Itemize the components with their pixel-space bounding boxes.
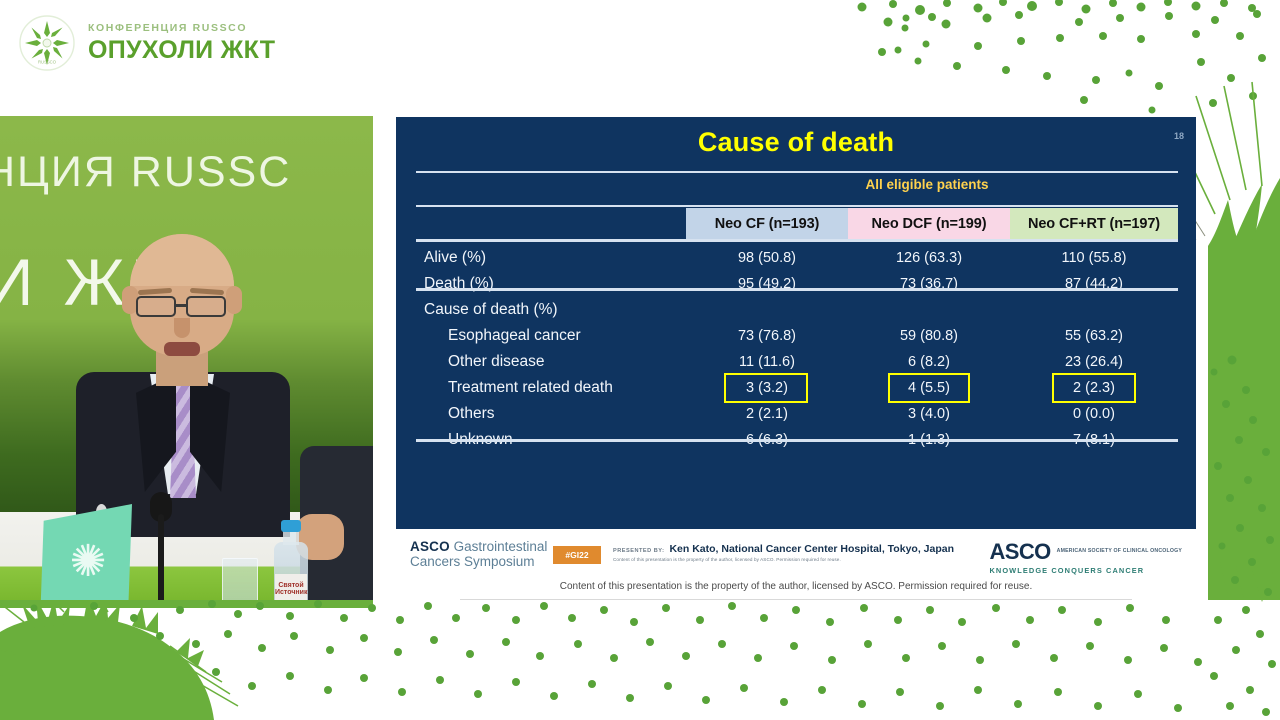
presentation-slide[interactable]: Cause of death 18 All eligible patients … xyxy=(396,117,1196,602)
presenter-name: Ken Kato, National Cancer Center Hospita… xyxy=(669,543,954,555)
slide-number: 18 xyxy=(1174,131,1184,141)
eyeglasses-bridge xyxy=(175,304,187,307)
slide-title: Cause of death xyxy=(396,127,1196,158)
column-header-neo-cf: Neo CF (n=193) xyxy=(686,208,848,239)
row-value-2: 73 (36.7) xyxy=(848,271,1010,297)
footer-divider xyxy=(460,599,1132,600)
row-value-1: 2 (2.1) xyxy=(686,401,848,427)
bottle-neck xyxy=(283,531,299,545)
table-row: Death (%) 95 (49.2) 73 (36.7) 87 (44.2) xyxy=(416,271,1178,297)
eyeglasses-left-lens xyxy=(136,296,176,317)
top-right-dot-field xyxy=(858,0,1267,114)
row-value-2: 59 (80.8) xyxy=(848,323,1010,349)
bottom-left-splatter xyxy=(0,616,214,720)
rule-below-columns xyxy=(416,239,1178,242)
backdrop-text-line1: НЦИЯ RUSSC xyxy=(0,148,373,197)
table-row: Esophageal cancer 73 (76.8) 59 (80.8) 55… xyxy=(416,323,1178,349)
column-header-neo-dcf: Neo DCF (n=199) xyxy=(848,208,1010,239)
brand-title: ОПУХОЛИ ЖКТ xyxy=(88,38,275,63)
video-player-panel[interactable]: НЦИЯ RUSSC И ЖК ✺ xyxy=(0,116,373,600)
bottle-label-text: Святой Источник xyxy=(275,582,307,596)
presented-by-label: PRESENTED BY: xyxy=(613,548,664,554)
table-row-highlighted: Treatment related death 3 (3.2) 4 (5.5) … xyxy=(416,375,1178,401)
asco-gi-line1: ASCO Gastrointestinal xyxy=(410,539,547,554)
row-label: Others xyxy=(448,401,495,427)
asco-society-name: AMERICAN SOCIETY OF CLINICAL ONCOLOGY xyxy=(1057,548,1182,555)
asco-gi-line2: Cancers Symposium xyxy=(410,554,547,569)
bottle-cap xyxy=(281,520,301,532)
microphone-icon xyxy=(128,514,198,600)
highlight-box-1 xyxy=(724,373,808,403)
asco-gi-word: ASCO xyxy=(410,539,450,554)
page-copyright: Content of this presentation is the prop… xyxy=(396,581,1196,592)
asco-wordmark: ASCO xyxy=(989,541,1050,563)
table-row: Cause of death (%) xyxy=(416,297,1178,323)
microphone-stem xyxy=(158,514,164,600)
head-highlight xyxy=(130,234,234,286)
row-label: Death (%) xyxy=(424,271,494,297)
row-label: Alive (%) xyxy=(424,245,486,271)
brand-header: RUSSCO КОНФЕРЕНЦИЯ RUSSCO ОПУХОЛИ ЖКТ xyxy=(18,14,275,72)
row-value-3: 87 (44.2) xyxy=(1010,271,1178,297)
row-value-2: 3 (4.0) xyxy=(848,401,1010,427)
rule-bottom xyxy=(416,439,1178,442)
asco-gi-rest: Gastrointestinal xyxy=(450,539,548,554)
group-header-label: All eligible patients xyxy=(676,177,1178,192)
presenter-block: PRESENTED BY: Ken Kato, National Cancer … xyxy=(613,543,954,562)
row-label: Cause of death (%) xyxy=(424,297,558,323)
rule-mid xyxy=(416,288,1178,291)
russco-sunburst-logo-icon: RUSSCO xyxy=(18,14,76,72)
rule-above-columns xyxy=(416,205,1178,207)
asco-gi-symposium-logo: ASCO Gastrointestinal Cancers Symposium xyxy=(410,539,547,569)
eyeglasses-right-lens xyxy=(186,296,226,317)
speaker-person xyxy=(78,234,288,534)
water-bottle: Святой Источник xyxy=(274,520,308,600)
row-value-3: 110 (55.8) xyxy=(1010,245,1178,271)
highlight-box-2 xyxy=(888,373,970,403)
row-value-1: 73 (76.8) xyxy=(686,323,848,349)
nose xyxy=(174,318,190,338)
row-value-2: 6 (8.2) xyxy=(848,349,1010,375)
svg-text:RUSSCO: RUSSCO xyxy=(38,60,57,65)
asco-logo: ASCO AMERICAN SOCIETY OF CLINICAL ONCOLO… xyxy=(989,541,1182,575)
russco-flag-icon: ✺ xyxy=(64,540,112,588)
table-row: Alive (%) 98 (50.8) 126 (63.3) 110 (55.8… xyxy=(416,245,1178,271)
asco-logo-row: ASCO AMERICAN SOCIETY OF CLINICAL ONCOLO… xyxy=(989,541,1182,563)
column-header-neo-cf-rt: Neo CF+RT (n=197) xyxy=(1010,208,1178,239)
row-label: Treatment related death xyxy=(448,375,613,401)
row-value-3: 55 (63.2) xyxy=(1010,323,1178,349)
presenter-line: PRESENTED BY: Ken Kato, National Cancer … xyxy=(613,543,954,555)
row-label: Other disease xyxy=(448,349,545,375)
water-glass xyxy=(222,558,258,600)
presenter-disclaimer: Content of this presentation is the prop… xyxy=(613,557,954,562)
row-value-1: 98 (50.8) xyxy=(686,245,848,271)
rule-top xyxy=(416,171,1178,173)
row-value-3: 0 (0.0) xyxy=(1010,401,1178,427)
row-label: Esophageal cancer xyxy=(448,323,581,349)
table-row: Others 2 (2.1) 3 (4.0) 0 (0.0) xyxy=(416,401,1178,427)
brand-kicker: КОНФЕРЕНЦИЯ RUSSCO xyxy=(88,23,275,35)
page-root: RUSSCO КОНФЕРЕНЦИЯ RUSSCO ОПУХОЛИ ЖКТ НЦ… xyxy=(0,0,1280,720)
row-value-3: 23 (26.4) xyxy=(1010,349,1178,375)
slide-body: Cause of death 18 All eligible patients … xyxy=(396,117,1196,529)
table-row: Other disease 11 (11.6) 6 (8.2) 23 (26.4… xyxy=(416,349,1178,375)
mouth xyxy=(164,342,200,356)
hashtag-badge: #GI22 xyxy=(553,546,601,564)
slide-footer: ASCO Gastrointestinal Cancers Symposium … xyxy=(396,529,1196,602)
ear-right xyxy=(226,286,242,314)
asco-tagline: KNOWLEDGE CONQUERS CANCER xyxy=(989,566,1182,575)
highlight-box-3 xyxy=(1052,373,1136,403)
row-value-2: 126 (63.3) xyxy=(848,245,1010,271)
row-value-1: 11 (11.6) xyxy=(686,349,848,375)
row-value-1: 95 (49.2) xyxy=(686,271,848,297)
brand-text: КОНФЕРЕНЦИЯ RUSSCO ОПУХОЛИ ЖКТ xyxy=(88,23,275,63)
